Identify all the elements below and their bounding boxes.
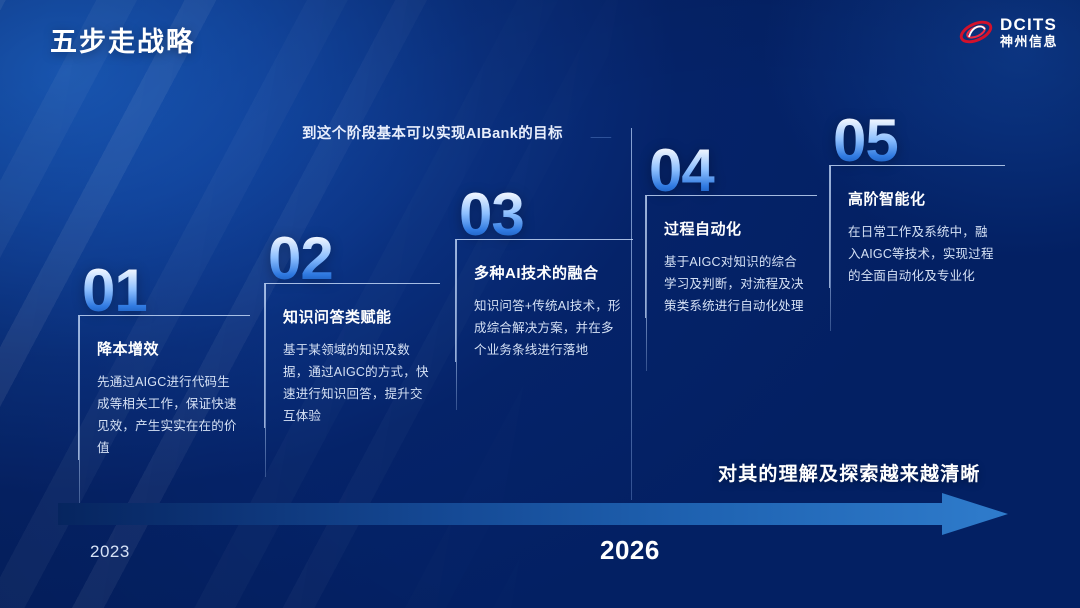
step-desc-01: 先通过AIGC进行代码生成等相关工作，保证快速见效，产生实实在在的价值 bbox=[97, 372, 242, 460]
timeline-year-start: 2023 bbox=[90, 542, 130, 562]
step-card-04: 04 过程自动化 基于AIGC对知识的综合学习及判断，对流程及决策类系统进行自动… bbox=[645, 142, 817, 318]
step-desc-02: 基于某领域的知识及数据，通过AIGC的方式，快速进行知识回答，提升交互体验 bbox=[283, 340, 432, 428]
step-title-02: 知识问答类赋能 bbox=[283, 306, 432, 327]
page-title: 五步走战略 bbox=[50, 20, 195, 59]
step-number-05: 05 bbox=[833, 112, 1005, 169]
step-title-04: 过程自动化 bbox=[664, 218, 809, 239]
step-number-02: 02 bbox=[268, 230, 440, 287]
timeline-arrow bbox=[58, 493, 1008, 535]
step-desc-05: 在日常工作及系统中，融入AIGC等技术，实现过程的全面自动化及专业化 bbox=[848, 222, 997, 288]
logo-en-label: DCITS bbox=[1000, 16, 1058, 33]
logo-cn-label: 神州信息 bbox=[1000, 35, 1058, 48]
step-card-03: 03 多种AI技术的融合 知识问答+传统AI技术，形成综合解决方案，并在多个业务… bbox=[455, 186, 633, 362]
step-rule-03 bbox=[456, 240, 457, 410]
step-title-01: 降本增效 bbox=[97, 338, 242, 359]
step-title-05: 高阶智能化 bbox=[848, 188, 997, 209]
step-rule-01 bbox=[79, 316, 80, 509]
step-desc-04: 基于AIGC对知识的综合学习及判断，对流程及决策类系统进行自动化处理 bbox=[664, 252, 809, 318]
step-body-04: 过程自动化 基于AIGC对知识的综合学习及判断，对流程及决策类系统进行自动化处理 bbox=[645, 195, 817, 318]
step-rule-02 bbox=[265, 284, 266, 477]
step-desc-03: 知识问答+传统AI技术，形成综合解决方案，并在多个业务条线进行落地 bbox=[474, 296, 625, 362]
step-card-05: 05 高阶智能化 在日常工作及系统中，融入AIGC等技术，实现过程的全面自动化及… bbox=[829, 112, 1005, 288]
swirl-logo-icon bbox=[959, 17, 993, 47]
callout-note: 到这个阶段基本可以实现AIBank的目标 bbox=[302, 122, 563, 143]
step-body-03: 多种AI技术的融合 知识问答+传统AI技术，形成综合解决方案，并在多个业务条线进… bbox=[455, 239, 633, 362]
step-number-03: 03 bbox=[459, 186, 633, 243]
step-number-01: 01 bbox=[82, 262, 250, 319]
brand-logo: DCITS 神州信息 bbox=[959, 16, 1058, 48]
timeline-caption: 对其的理解及探索越来越清晰 bbox=[718, 459, 981, 486]
step-body-01: 降本增效 先通过AIGC进行代码生成等相关工作，保证快速见效，产生实实在在的价值 bbox=[78, 315, 250, 460]
logo-text-block: DCITS 神州信息 bbox=[1000, 16, 1058, 48]
step-rule-05 bbox=[830, 166, 831, 331]
step-card-01: 01 降本增效 先通过AIGC进行代码生成等相关工作，保证快速见效，产生实实在在… bbox=[78, 262, 250, 460]
timeline-year-end: 2026 bbox=[600, 535, 660, 566]
step-card-02: 02 知识问答类赋能 基于某领域的知识及数据，通过AIGC的方式，快速进行知识回… bbox=[264, 230, 440, 428]
slide-root: 五步走战略 DCITS 神州信息 到这个阶段基本可以实现AIBank的目标 ⸺ … bbox=[0, 0, 1080, 608]
step-body-05: 高阶智能化 在日常工作及系统中，融入AIGC等技术，实现过程的全面自动化及专业化 bbox=[829, 165, 1005, 288]
step-rule-04 bbox=[646, 196, 647, 371]
callout-note-trailing: ⸺ bbox=[590, 126, 613, 145]
step-title-03: 多种AI技术的融合 bbox=[474, 262, 625, 283]
step-body-02: 知识问答类赋能 基于某领域的知识及数据，通过AIGC的方式，快速进行知识回答，提… bbox=[264, 283, 440, 428]
step-number-04: 04 bbox=[649, 142, 817, 199]
